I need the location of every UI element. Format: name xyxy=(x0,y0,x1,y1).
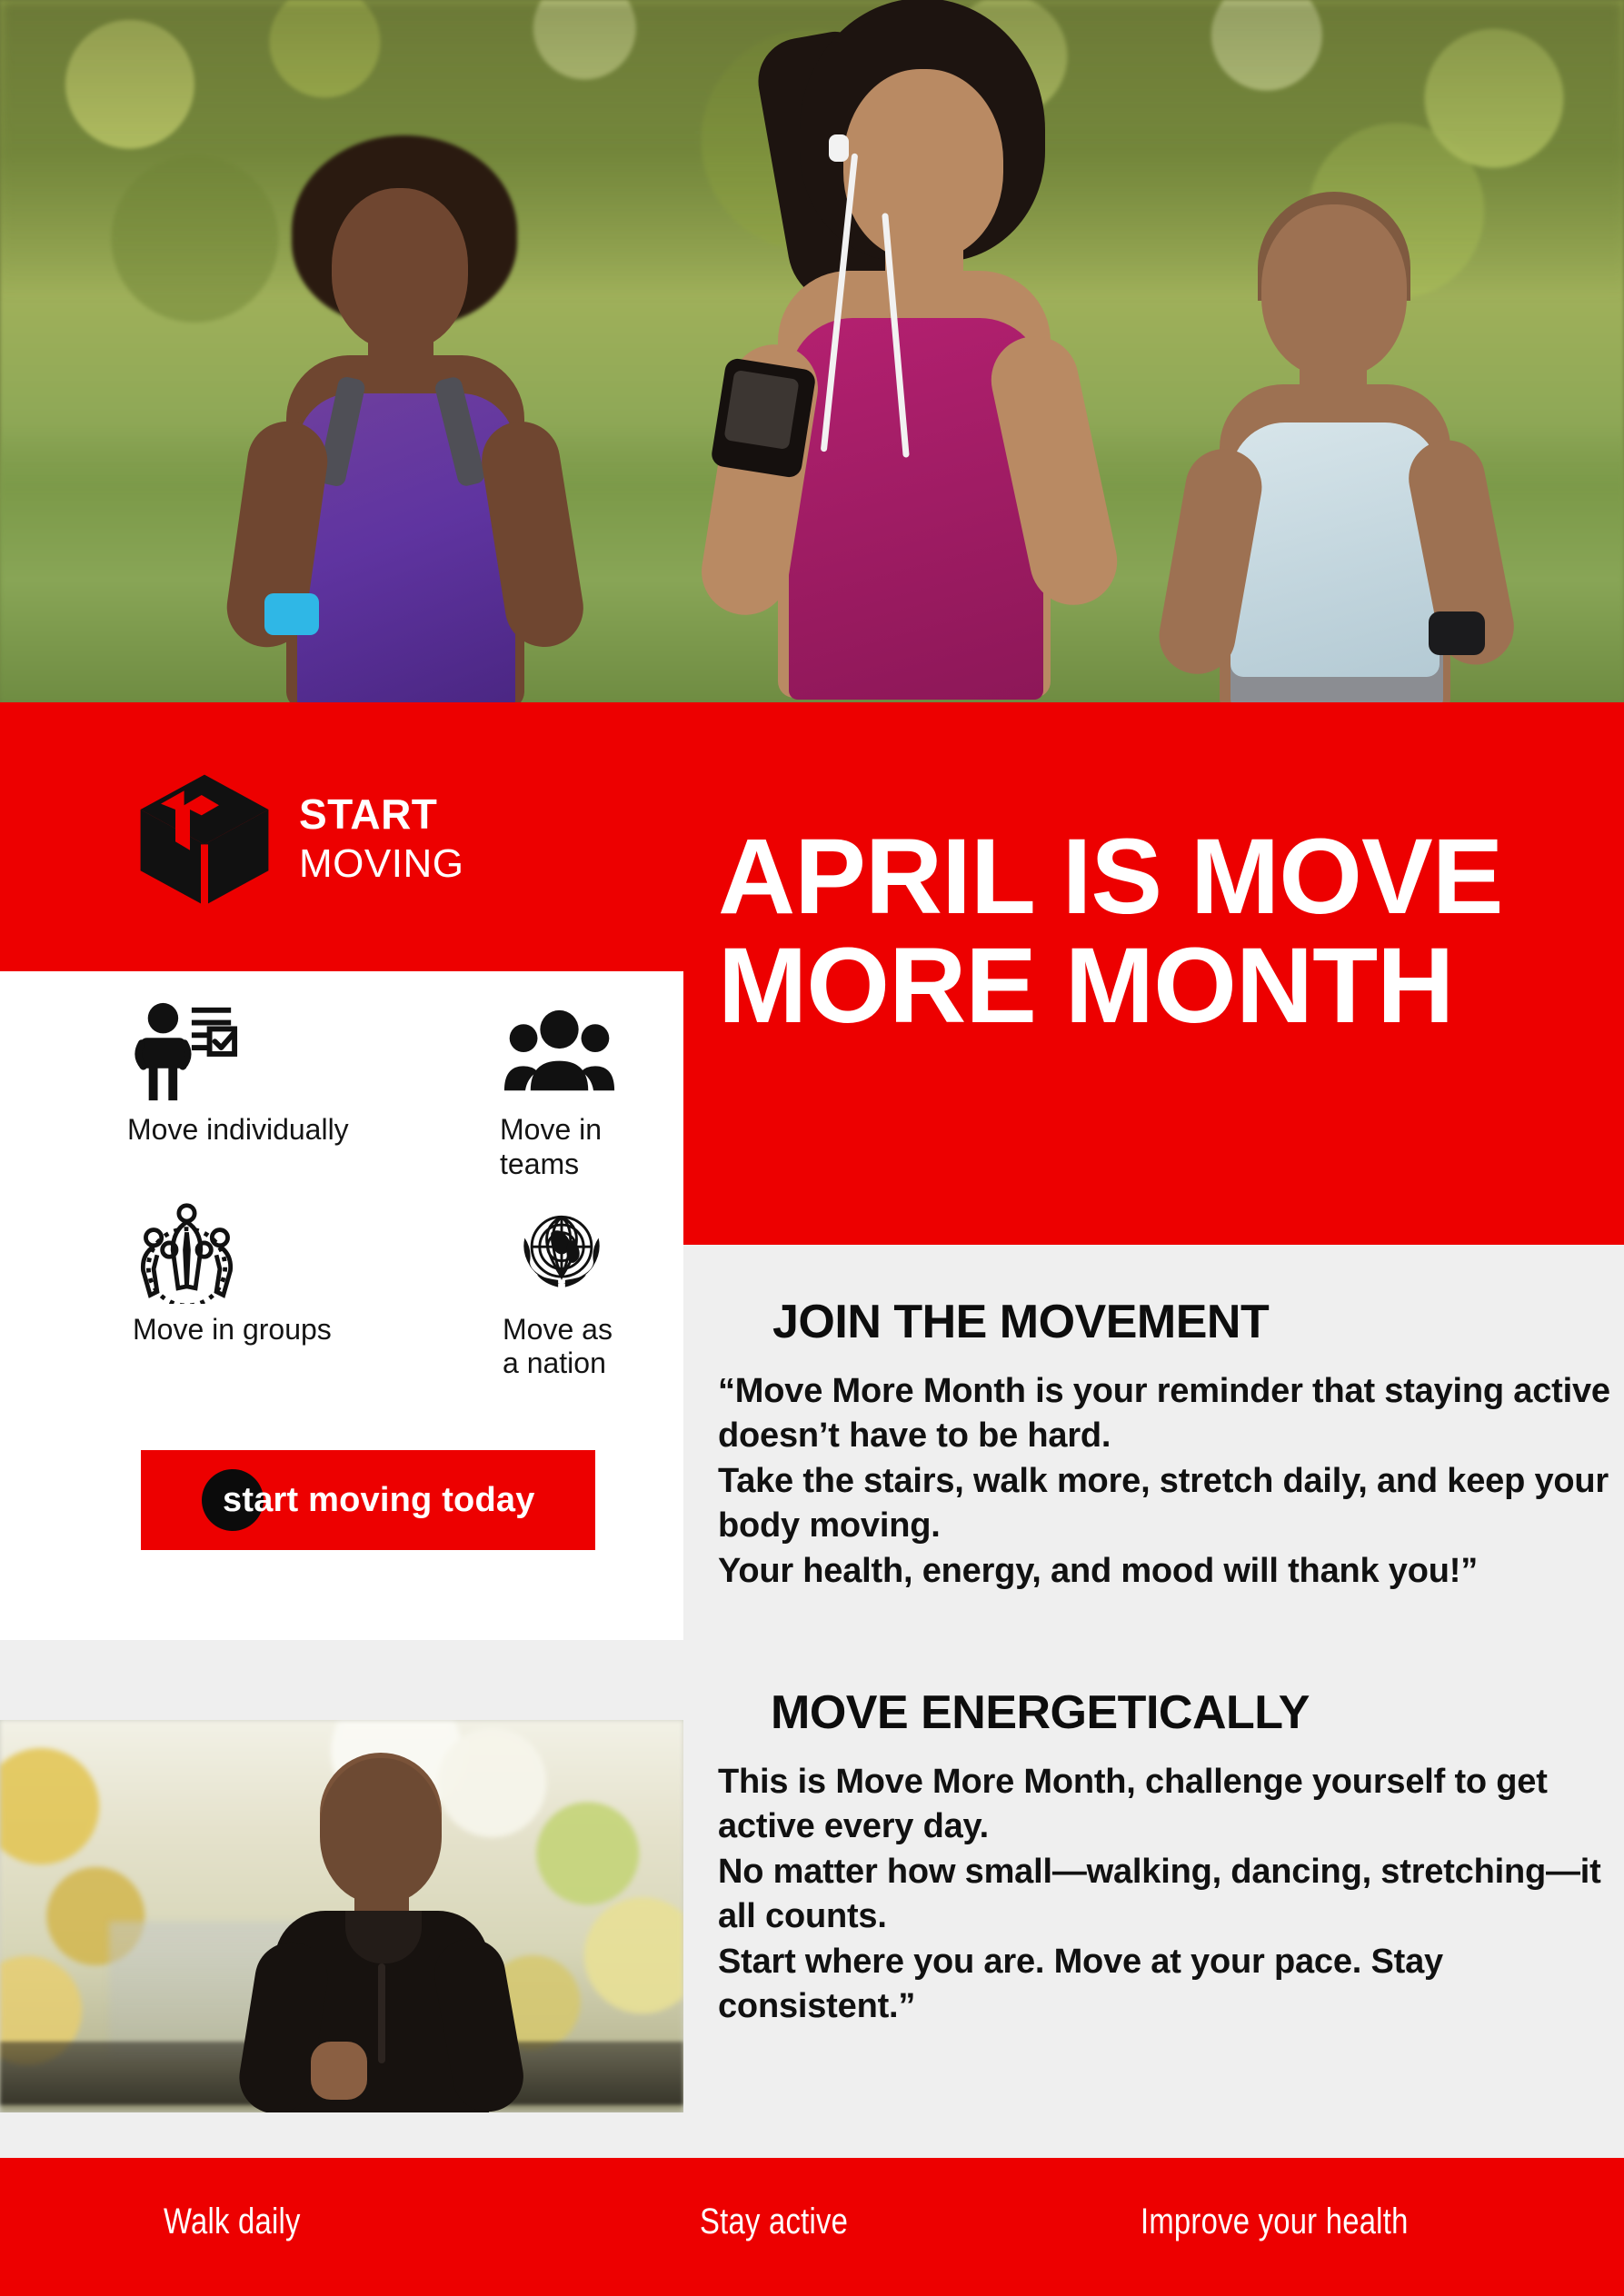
brand-logo: START MOVING xyxy=(132,766,463,911)
secondary-photo xyxy=(0,1720,683,2112)
footer-item-improve-your-health: Improve your health xyxy=(1141,2202,1409,2242)
move-options-grid: Move individually Move in teams xyxy=(127,999,654,1381)
section-body: This is Move More Month, challenge yours… xyxy=(718,1760,1624,2029)
headline-block: APRIL IS MOVE MORE MONTH xyxy=(683,702,1624,1245)
move-option-label: Move individually xyxy=(127,1113,349,1148)
hero-runner-right xyxy=(1172,157,1527,702)
section-body: “Move More Month is your reminder that s… xyxy=(718,1369,1624,1594)
move-option-label: Move as a nation xyxy=(503,1313,627,1382)
cta-label: start moving today xyxy=(223,1481,535,1520)
brand-line-1: START xyxy=(299,793,463,835)
move-option-groups[interactable]: Move in groups xyxy=(127,1198,359,1382)
footer-bar: Walk daily Stay active Improve your heal… xyxy=(0,2158,1624,2296)
start-moving-today-button[interactable]: start moving today xyxy=(141,1450,595,1550)
icon-panel: Move individually Move in teams xyxy=(0,971,683,1640)
section-title: MOVE ENERGETICALLY xyxy=(771,1685,1624,1740)
hero-runner-center xyxy=(691,0,1163,702)
page-title: APRIL IS MOVE MORE MONTH xyxy=(718,822,1609,1041)
move-option-individually[interactable]: Move individually xyxy=(127,999,359,1182)
move-option-label: Move in groups xyxy=(127,1313,332,1347)
poster-canvas: START MOVING APRIL IS MOVE MORE MONTH xyxy=(0,0,1624,2296)
brand-line-2: MOVING xyxy=(299,844,463,884)
hero-runner-left xyxy=(232,121,623,702)
secondary-photo-runner xyxy=(244,1749,516,2112)
move-option-teams[interactable]: Move in teams xyxy=(395,999,627,1182)
hero-photo xyxy=(0,0,1624,702)
isometric-cube-icon xyxy=(132,766,277,911)
move-option-label: Move in teams xyxy=(500,1113,627,1182)
people-circle-community-icon xyxy=(127,1198,245,1306)
move-option-nation[interactable]: Move as a nation xyxy=(395,1198,627,1382)
united-nations-emblem-icon xyxy=(503,1198,621,1306)
person-checklist-icon xyxy=(127,999,245,1106)
section-join-the-movement: JOIN THE MOVEMENT “Move More Month is yo… xyxy=(718,1295,1624,1594)
three-people-group-icon xyxy=(500,999,618,1106)
footer-item-walk-daily: Walk daily xyxy=(164,2202,301,2242)
section-move-energetically: MOVE ENERGETICALLY This is Move More Mon… xyxy=(718,1685,1624,2029)
section-title: JOIN THE MOVEMENT xyxy=(772,1295,1624,1349)
footer-item-stay-active: Stay active xyxy=(700,2202,848,2242)
